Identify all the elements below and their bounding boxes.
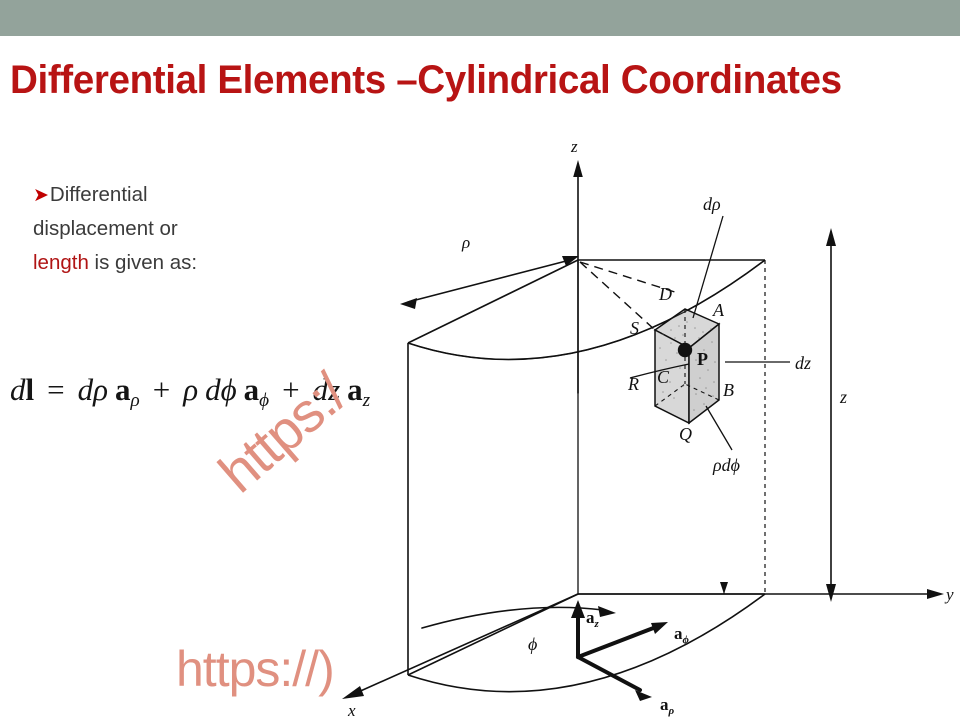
bullet-list: ➤Differential displacement or length is … [33, 178, 281, 280]
bullet-line-2: displacement or [33, 217, 178, 240]
unit-vector-label-aphi: aϕ [674, 624, 690, 646]
y-axis-tick-arrow [720, 582, 728, 594]
watermark-bottom: https://) [176, 640, 334, 698]
eq-t2-coef: ρ [183, 372, 198, 407]
bullet-highlight-length: length [33, 251, 89, 274]
vertex-label-C: C [657, 367, 670, 387]
dimension-label-dz: dz [795, 353, 811, 373]
header-band [0, 0, 960, 36]
eq-t2-d: d [205, 372, 221, 407]
axis-x [342, 594, 578, 699]
vertex-label-S: S [630, 318, 639, 338]
dimension-rho [400, 256, 579, 309]
eq-t1-sub: ρ [131, 390, 140, 411]
vertex-label-Q: Q [679, 424, 692, 444]
differential-volume-element [655, 309, 719, 423]
eq-t3-d: d [313, 372, 329, 407]
eq-t2-phi: ϕ [221, 372, 237, 407]
leader-rho-dphi [706, 406, 732, 450]
axis-label-z: z [570, 138, 578, 156]
eq-t1-d: d [78, 372, 94, 407]
bullet-line-3-tail: is given as: [89, 251, 197, 274]
slide: Differential Elements –Cylindrical Coord… [0, 0, 960, 720]
eq-t1-rho: ρ [93, 372, 108, 407]
dimension-label-d-rho: dρ [703, 194, 721, 214]
unit-vector-label-arho: aρ [660, 695, 675, 717]
vertex-label-P: P [697, 349, 708, 369]
point-P-marker [678, 343, 692, 357]
wedge-top-radial-left [408, 260, 578, 343]
dimension-label-rho: ρ [461, 233, 470, 252]
unit-vector-arho [578, 657, 652, 701]
eq-t2-sub: ϕ [259, 390, 269, 411]
bullet-line-1: Differential [50, 183, 148, 206]
dimension-label-z-height: z [839, 387, 847, 407]
cylindrical-coordinates-diagram: z ρ y [330, 138, 960, 720]
dimension-label-rho-dphi: ρdϕ [712, 455, 740, 475]
vertex-label-B: B [723, 380, 734, 400]
eq-equals: = [47, 372, 64, 407]
vertex-label-A: A [712, 300, 725, 320]
eq-plus-2: + [282, 372, 299, 407]
arrow-bullet-icon: ➤ [33, 185, 49, 206]
eq-vector-l: l [26, 372, 35, 407]
unit-vector-label-az: az [586, 608, 600, 630]
eq-t1-avec: a [115, 372, 131, 407]
eq-t2-avec: a [244, 372, 260, 407]
axis-label-y: y [944, 585, 954, 604]
vertex-label-D: D [658, 284, 672, 304]
page-title: Differential Elements –Cylindrical Coord… [10, 52, 922, 108]
dimension-z-height [826, 228, 836, 602]
eq-plus-1: + [153, 372, 170, 407]
eq-d: d [10, 372, 26, 407]
dimension-label-phi: ϕ [528, 634, 537, 654]
unit-vector-aphi [578, 622, 668, 657]
axis-label-x: x [347, 701, 356, 720]
vertex-label-R: R [627, 374, 639, 394]
